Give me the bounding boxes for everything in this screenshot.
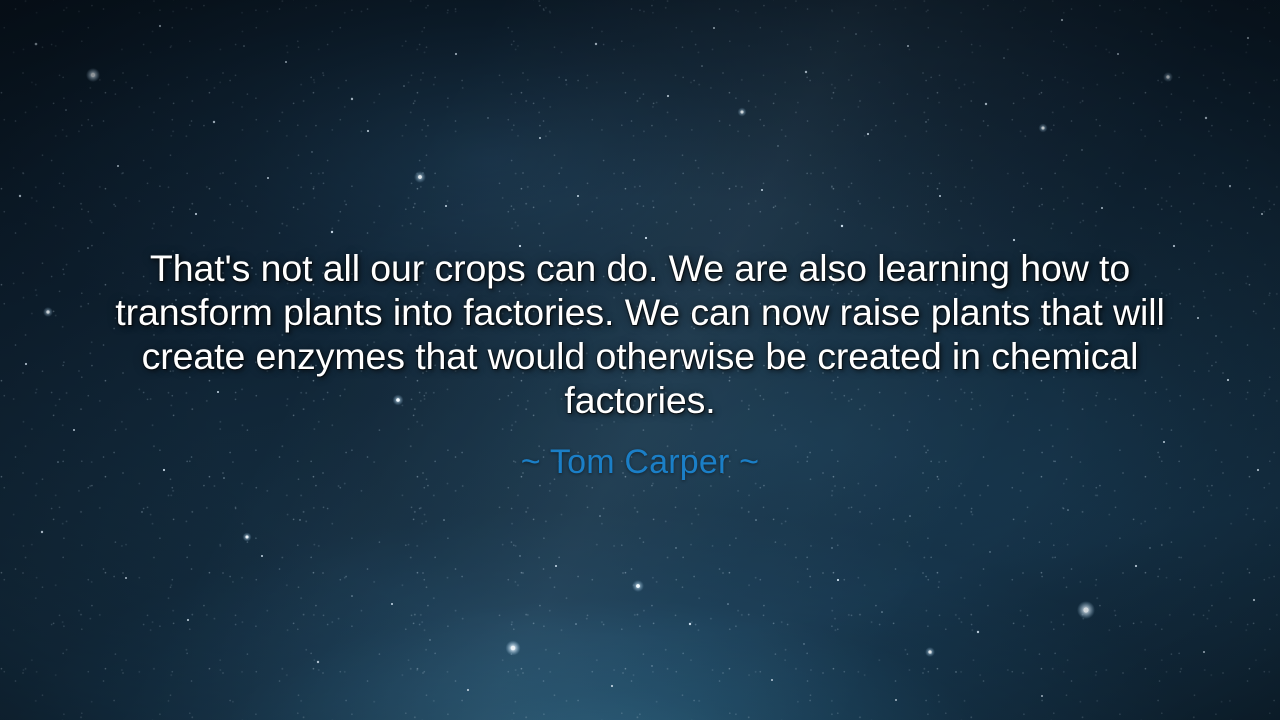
quote-card: That's not all our crops can do. We are … (0, 0, 1280, 720)
quote-content: That's not all our crops can do. We are … (0, 0, 1280, 720)
quote-text: That's not all our crops can do. We are … (101, 246, 1179, 422)
quote-author: ~ Tom Carper ~ (521, 442, 759, 482)
